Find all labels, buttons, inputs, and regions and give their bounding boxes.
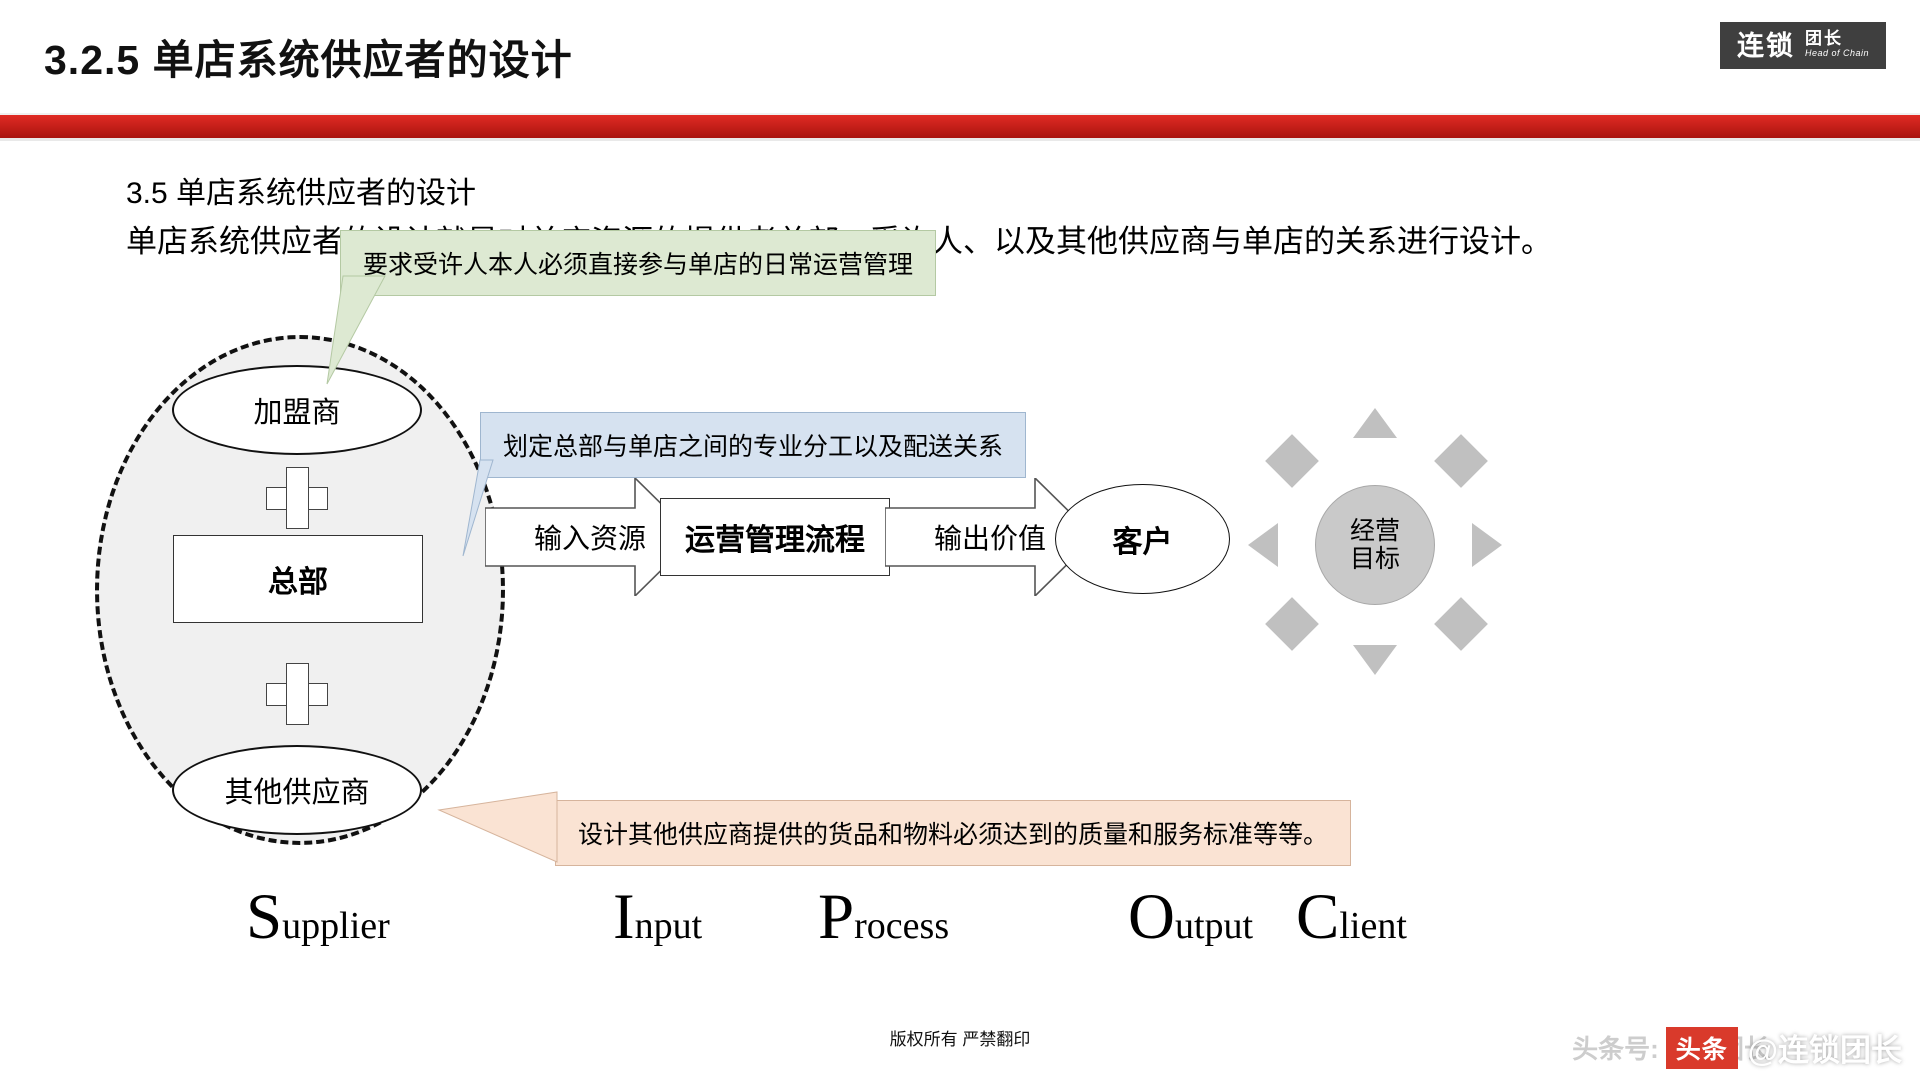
triangle-down-icon	[1353, 645, 1397, 675]
goal-circle[interactable]: 经营 目标	[1315, 485, 1435, 605]
goal-label-line2: 目标	[1350, 545, 1400, 573]
plus-icon-2	[266, 663, 328, 725]
callout-tail-icon	[385, 460, 495, 590]
output-arrow-label: 输出价值	[934, 517, 1046, 557]
process-label: 运营管理流程	[685, 515, 865, 559]
sipoc-process-rest: rocess	[854, 905, 949, 947]
franchisee-callout[interactable]: 要求受许人本人必须直接参与单店的日常运营管理	[340, 230, 936, 296]
slide-header: 3.2.5 单店系统供应者的设计 连锁 团长 Head of Chain	[0, 0, 1920, 112]
other-suppliers-callout[interactable]: 设计其他供应商提供的货品和物料必须达到的质量和服务标准等等。	[555, 800, 1351, 866]
sipoc-client: Client	[1296, 880, 1407, 955]
sipoc-process: Process	[818, 880, 949, 955]
sipoc-output-cap: O	[1128, 881, 1175, 953]
header-rule-shadow	[0, 138, 1920, 141]
headquarters-label: 总部	[268, 557, 328, 601]
logo-sub-text: 团长	[1805, 30, 1843, 48]
sipoc-output-rest: utput	[1175, 905, 1253, 947]
sipoc-input: Input	[613, 880, 702, 955]
process-box[interactable]: 运营管理流程	[660, 498, 890, 576]
franchisee-callout-text: 要求受许人本人必须直接参与单店的日常运营管理	[340, 230, 936, 296]
logo-sub-wrap: 团长 Head of Chain	[1805, 30, 1869, 60]
sipoc-supplier-cap: S	[246, 881, 282, 953]
plus-icon-1	[266, 467, 328, 529]
sipoc-legend: Supplier Input Process Output Client	[0, 880, 1920, 970]
sipoc-supplier-rest: upplier	[282, 905, 390, 947]
brand-logo: 连锁 团长 Head of Chain	[1720, 22, 1886, 69]
client-label: 客户	[1113, 517, 1173, 561]
sipoc-client-rest: lient	[1339, 905, 1407, 947]
sipoc-process-cap: P	[818, 881, 854, 953]
callout-tail-icon	[285, 276, 405, 386]
other-suppliers-label: 其他供应商	[224, 769, 369, 811]
input-arrow-label: 输入资源	[534, 517, 646, 557]
page-title: 3.2.5 单店系统供应者的设计	[44, 26, 573, 86]
client-ellipse[interactable]: 客户	[1055, 484, 1230, 594]
sipoc-output: Output	[1128, 880, 1253, 955]
sipoc-supplier: Supplier	[246, 880, 390, 955]
triangle-downleft-icon	[1265, 597, 1319, 651]
triangle-upright-icon	[1434, 434, 1488, 488]
headquarters-callout-text: 划定总部与单店之间的专业分工以及配送关系	[480, 412, 1026, 478]
triangle-up-icon	[1353, 408, 1397, 438]
headquarters-callout[interactable]: 划定总部与单店之间的专业分工以及配送关系	[480, 412, 1026, 478]
triangle-left-icon	[1248, 523, 1278, 567]
watermark-badge: 头条	[1666, 1027, 1738, 1069]
logo-main-text: 连锁	[1737, 33, 1795, 60]
franchisee-label: 加盟商	[253, 389, 340, 431]
goal-starburst: 经营 目标	[1240, 400, 1510, 680]
logo-english-text: Head of Chain	[1805, 48, 1869, 60]
watermark: 头条 @连锁团长	[1666, 1025, 1902, 1070]
sipoc-diagram: 加盟商 总部 其他供应商 输入资源 运营管理流程	[0, 270, 1920, 970]
section-heading: 3.5 单店系统供应者的设计	[126, 168, 476, 212]
header-red-rule	[0, 113, 1920, 138]
watermark-text: @连锁团长	[1748, 1025, 1902, 1070]
other-suppliers-callout-text: 设计其他供应商提供的货品和物料必须达到的质量和服务标准等等。	[555, 800, 1351, 866]
slide-canvas: 3.2.5 单店系统供应者的设计 连锁 团长 Head of Chain 3.5…	[0, 0, 1920, 1080]
other-suppliers-ellipse[interactable]: 其他供应商	[172, 745, 422, 835]
callout-tail-icon	[437, 788, 567, 878]
triangle-upleft-icon	[1265, 434, 1319, 488]
sipoc-input-rest: nput	[635, 905, 703, 947]
sipoc-client-cap: C	[1296, 881, 1339, 953]
sipoc-input-cap: I	[613, 881, 635, 953]
triangle-right-icon	[1472, 523, 1502, 567]
goal-label-line1: 经营	[1350, 517, 1400, 545]
triangle-downright-icon	[1434, 597, 1488, 651]
